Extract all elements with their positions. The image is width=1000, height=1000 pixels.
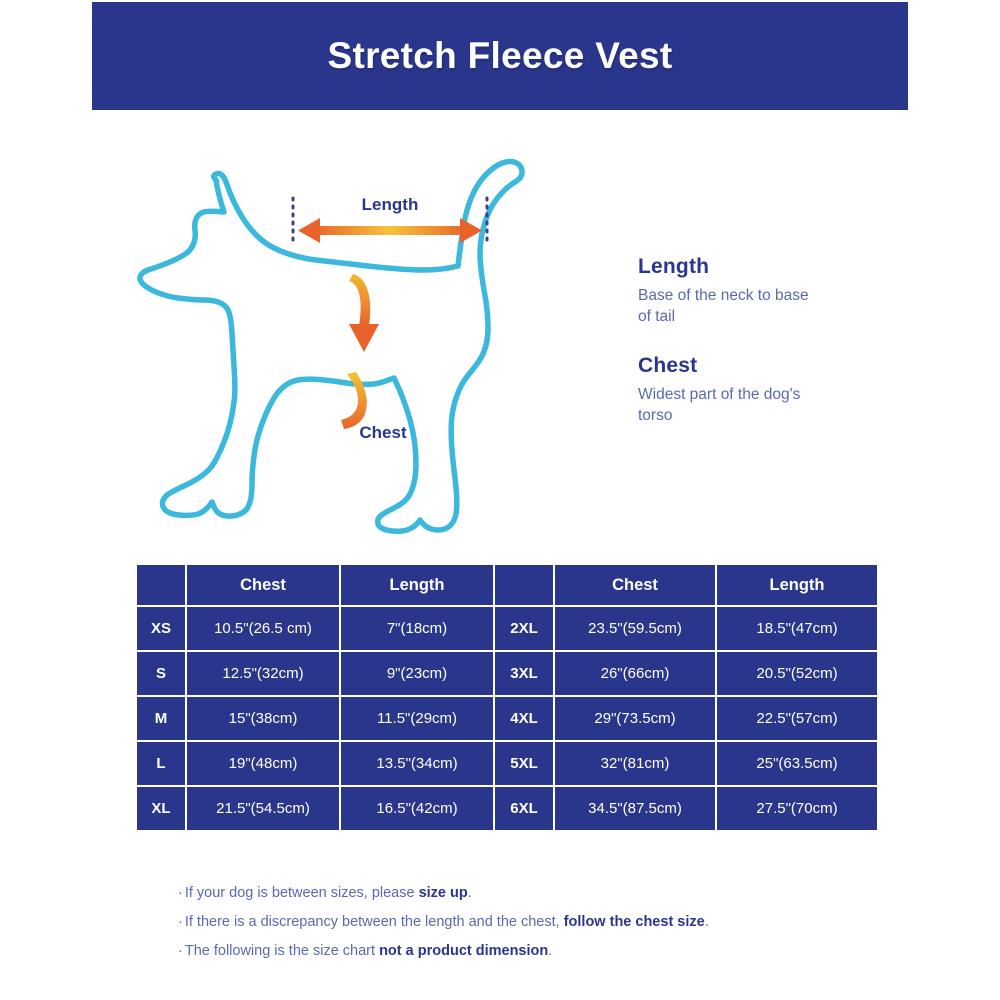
footnote-text-before: If your dog is between sizes, please <box>185 885 419 901</box>
chest-value-s: 12.5"(32cm) <box>187 652 339 695</box>
table-row: S 12.5"(32cm) 9"(23cm) 3XL 26"(66cm) 20.… <box>137 652 877 695</box>
chest-value-xl: 21.5"(54.5cm) <box>187 787 339 830</box>
size-chart-table-wrapper: Chest Length Chest Length XS 10.5"(26.5 … <box>135 563 865 832</box>
size-label-m: M <box>137 697 185 740</box>
length-value-xs: 7"(18cm) <box>341 607 493 650</box>
chest-label: Chest <box>359 423 407 442</box>
chest-value-xs: 10.5"(26.5 cm) <box>187 607 339 650</box>
length-arrow-icon <box>298 218 482 243</box>
length-value-s: 9"(23cm) <box>341 652 493 695</box>
chest-value-2xl: 23.5"(59.5cm) <box>555 607 715 650</box>
size-label-5xl: 5XL <box>495 742 553 785</box>
definition-chest-title: Chest <box>638 354 878 378</box>
size-label-2xl: 2XL <box>495 607 553 650</box>
footnote-chest-priority: ·If there is a discrepancy between the l… <box>178 915 878 931</box>
size-chart-table: Chest Length Chest Length XS 10.5"(26.5 … <box>135 563 879 832</box>
definition-chest: Chest Widest part of the dog's torso <box>638 354 878 427</box>
size-label-xl: XL <box>137 787 185 830</box>
table-header-row: Chest Length Chest Length <box>137 565 877 605</box>
dog-measurement-illustration: Length Chest <box>120 150 590 550</box>
footnote-size-up: ·If your dog is between sizes, please si… <box>178 886 878 902</box>
footnote-text-after: . <box>705 914 709 930</box>
footnote-text-after: . <box>468 885 472 901</box>
table-row: XS 10.5"(26.5 cm) 7"(18cm) 2XL 23.5"(59.… <box>137 607 877 650</box>
chest-value-4xl: 29"(73.5cm) <box>555 697 715 740</box>
definition-length-description: Base of the neck to base of tail <box>638 285 823 328</box>
header-blank-left <box>137 565 185 605</box>
header-length-left: Length <box>341 565 493 605</box>
chest-value-5xl: 32"(81cm) <box>555 742 715 785</box>
header-chest-right: Chest <box>555 565 715 605</box>
footnote-text-after: . <box>548 943 552 959</box>
table-row: M 15"(38cm) 11.5"(29cm) 4XL 29"(73.5cm) … <box>137 697 877 740</box>
footnote-emphasis: not a product dimension <box>379 943 548 959</box>
size-label-3xl: 3XL <box>495 652 553 695</box>
footnote-text-before: The following is the size chart <box>185 943 379 959</box>
size-label-xs: XS <box>137 607 185 650</box>
length-value-2xl: 18.5"(47cm) <box>717 607 877 650</box>
length-value-5xl: 25"(63.5cm) <box>717 742 877 785</box>
table-row: XL 21.5"(54.5cm) 16.5"(42cm) 6XL 34.5"(8… <box>137 787 877 830</box>
definition-length-title: Length <box>638 255 878 279</box>
length-value-l: 13.5"(34cm) <box>341 742 493 785</box>
definition-chest-description: Widest part of the dog's torso <box>638 384 823 427</box>
definition-length: Length Base of the neck to base of tail <box>638 255 878 328</box>
chest-value-6xl: 34.5"(87.5cm) <box>555 787 715 830</box>
length-value-4xl: 22.5"(57cm) <box>717 697 877 740</box>
header-banner: Stretch Fleece Vest <box>92 2 908 110</box>
footnote-text-before: If there is a discrepancy between the le… <box>185 914 564 930</box>
length-value-3xl: 20.5"(52cm) <box>717 652 877 695</box>
bullet-icon: · <box>178 914 183 930</box>
chest-value-m: 15"(38cm) <box>187 697 339 740</box>
chest-value-3xl: 26"(66cm) <box>555 652 715 695</box>
footnote-emphasis: size up <box>419 885 468 901</box>
bullet-icon: · <box>178 885 183 901</box>
header-blank-right <box>495 565 553 605</box>
footnote-emphasis: follow the chest size <box>564 914 705 930</box>
length-value-6xl: 27.5"(70cm) <box>717 787 877 830</box>
bullet-icon: · <box>178 943 183 959</box>
chest-value-l: 19"(48cm) <box>187 742 339 785</box>
header-length-right: Length <box>717 565 877 605</box>
size-label-6xl: 6XL <box>495 787 553 830</box>
length-value-xl: 16.5"(42cm) <box>341 787 493 830</box>
length-value-m: 11.5"(29cm) <box>341 697 493 740</box>
measurement-definitions: Length Base of the neck to base of tail … <box>638 255 878 453</box>
size-label-4xl: 4XL <box>495 697 553 740</box>
size-label-l: L <box>137 742 185 785</box>
footnotes: ·If your dog is between sizes, please si… <box>178 886 878 973</box>
dog-outline-icon <box>140 161 522 531</box>
footnote-not-product-dimension: ·The following is the size chart not a p… <box>178 944 878 960</box>
header-chest-left: Chest <box>187 565 339 605</box>
length-label: Length <box>362 195 419 214</box>
page-title: Stretch Fleece Vest <box>327 35 672 77</box>
size-label-s: S <box>137 652 185 695</box>
chest-arrow-icon <box>341 274 379 429</box>
table-row: L 19"(48cm) 13.5"(34cm) 5XL 32"(81cm) 25… <box>137 742 877 785</box>
